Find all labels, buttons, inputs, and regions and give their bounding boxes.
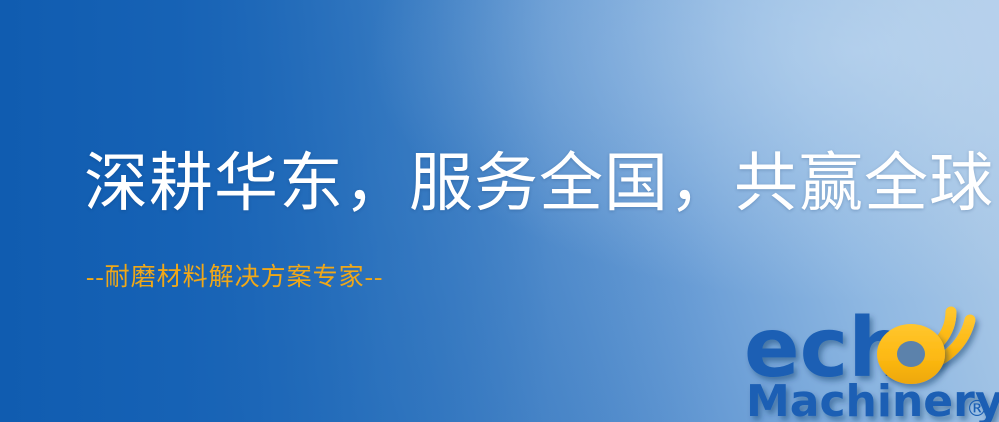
banner-headline: 深耕华东，服务全国，共赢全球 [84,152,994,216]
logo-tagline: Machinery [746,376,999,422]
registered-trademark-mark: ® [966,397,988,422]
logo-letter-o-accent [877,324,945,384]
banner-subtitle: --耐磨材料解决方案专家-- [86,265,383,290]
logo-wordmark: ech Machinery ® [744,296,999,422]
promotional-banner: 深耕华东，服务全国，共赢全球 --耐磨材料解决方案专家-- [0,0,999,422]
company-logo: ech Machinery ® [744,296,999,422]
svg-text:Machinery: Machinery [746,376,999,422]
